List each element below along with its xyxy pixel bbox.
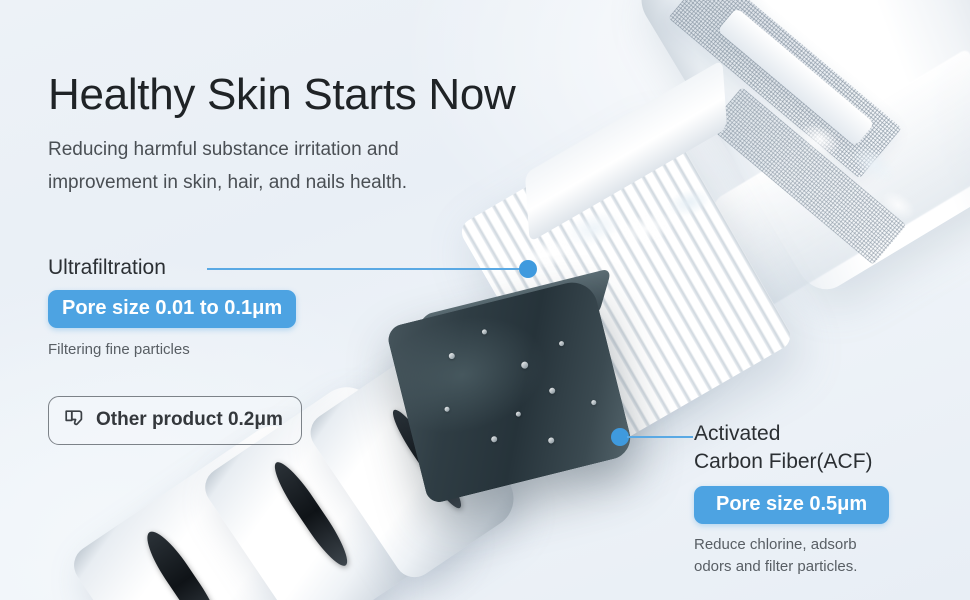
page-subtitle: Reducing harmful substance irritation an… (48, 133, 407, 199)
o-ring-2-icon (267, 456, 355, 571)
callout-activated-carbon-label-line-2: Carbon Fiber(ACF) (694, 448, 889, 476)
page-title: Healthy Skin Starts Now (48, 70, 516, 120)
other-product-comparison-box: Other product 0.2μm (48, 396, 302, 445)
caption-line-2: odors and filter particles. (694, 556, 889, 578)
callout-ultrafiltration-label: Ultrafiltration (48, 256, 296, 280)
callout-activated-carbon-caption: Reduce chlorine, adsorb odors and filter… (694, 534, 889, 578)
infographic-canvas: Healthy Skin Starts Now Reducing harmful… (0, 0, 970, 600)
callout-ultrafiltration-badge: Pore size 0.01 to 0.1μm (48, 290, 296, 328)
mesh-band-icon (717, 8, 874, 147)
metal-mesh-screen-icon (668, 0, 902, 179)
textured-sleeve-icon (327, 375, 482, 561)
o-ring-1-icon (139, 525, 228, 600)
leader-line-activated-carbon (627, 436, 693, 438)
o-ring-3-icon (387, 405, 468, 513)
thumbs-down-icon (63, 408, 87, 432)
carbon-block-top-face (408, 268, 612, 364)
subtitle-line-2: improvement in skin, hair, and nails hea… (48, 166, 407, 199)
pleated-filter-top-face (525, 60, 727, 243)
water-splash-upper-icon (759, 78, 950, 248)
other-product-label: Other product 0.2μm (96, 409, 283, 431)
activated-carbon-fiber-block-icon (385, 277, 635, 505)
callout-activated-carbon-label-line-1: Activated (694, 420, 889, 448)
caption-line-1: Reduce chlorine, adsorb (694, 534, 889, 556)
white-pleated-ultrafiltration-cartridge-icon (457, 109, 795, 459)
callout-activated-carbon: Activated Carbon Fiber(ACF) Pore size 0.… (694, 420, 889, 578)
white-cylinder-body-icon (631, 0, 970, 299)
callout-ultrafiltration: Ultrafiltration Pore size 0.01 to 0.1μm … (48, 256, 296, 361)
white-cylinder-cap-icon (712, 47, 970, 329)
leader-dot-ultrafiltration (519, 260, 537, 278)
callout-ultrafiltration-caption: Filtering fine particles (48, 339, 296, 361)
metal-mesh-screen-secondary-icon (708, 87, 906, 265)
water-splash-icon (499, 168, 726, 296)
callout-activated-carbon-badge: Pore size 0.5μm (694, 486, 889, 524)
subtitle-line-1: Reducing harmful substance irritation an… (48, 133, 407, 166)
shower-housing-section-3-icon (303, 349, 525, 585)
